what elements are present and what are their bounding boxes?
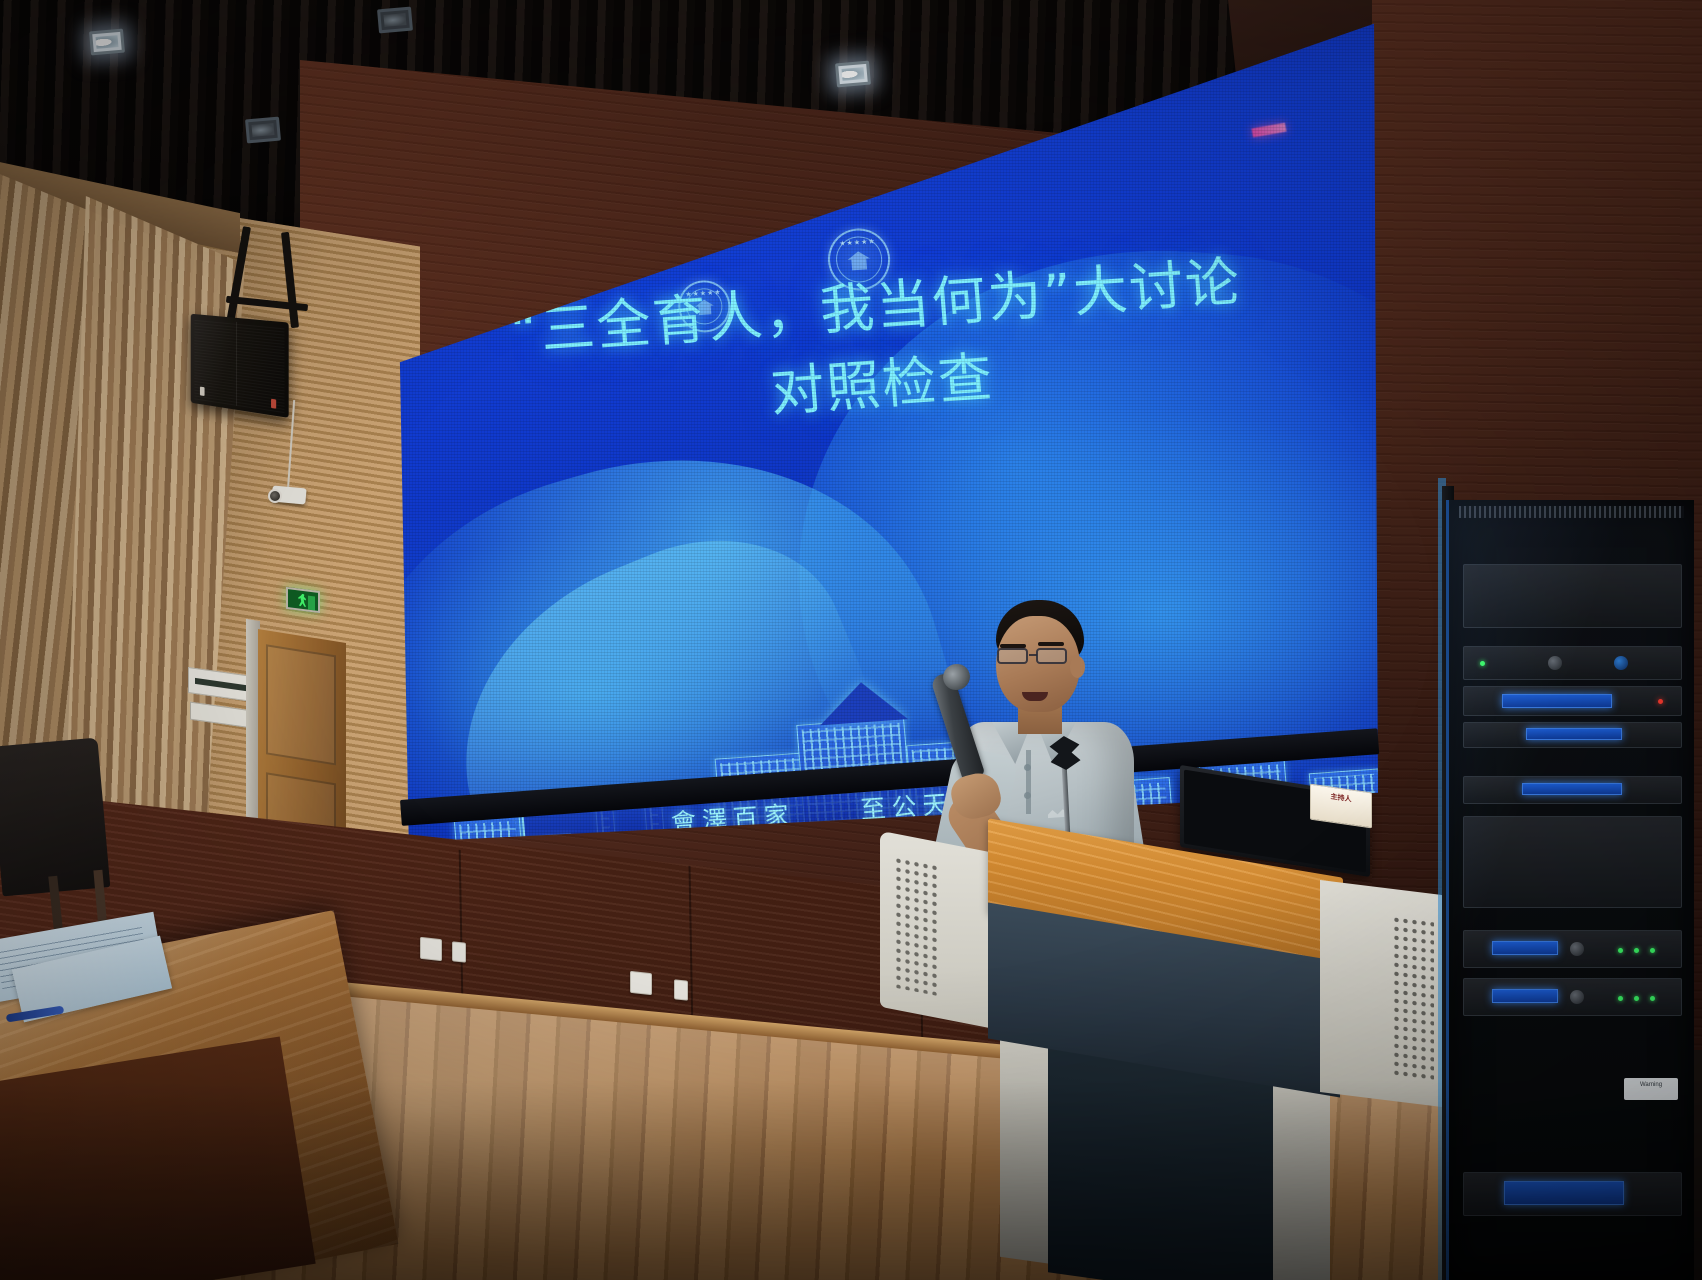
screenshot-scene: ★★★★★ ★★★★★ “三全育人，我当何为”大讨论 对照检查 — [0, 0, 1702, 1280]
av-equipment-rack[interactable]: Warning — [1446, 500, 1694, 1280]
shirt-button — [1024, 764, 1031, 771]
name-card-text: 主持人 — [1331, 794, 1352, 804]
rack-glass-door-reflection — [1449, 500, 1694, 1280]
lectern-left-panel — [880, 831, 996, 1030]
wall-power-outlet[interactable] — [630, 971, 652, 995]
eyeglass-lens-right — [1036, 648, 1067, 664]
wall-power-outlet[interactable] — [420, 937, 442, 961]
camera-lens-icon — [268, 489, 282, 503]
shirt-button — [1024, 792, 1031, 799]
foreground-table-apron — [0, 1036, 316, 1280]
running-man-icon — [298, 593, 309, 607]
speaker-badge — [271, 399, 276, 409]
exit-door-icon — [308, 596, 315, 611]
ceiling-loudspeaker — [191, 314, 289, 418]
ceiling-downlight-icon — [377, 7, 413, 34]
lectern-speaker-grille — [894, 855, 938, 996]
lectern-right-panel — [1320, 880, 1450, 1108]
wall-power-outlet[interactable] — [452, 941, 466, 962]
eyeglass-bridge — [1029, 654, 1037, 656]
lectern-speaker-grille — [1392, 915, 1434, 1084]
ceiling-downlight-icon — [89, 29, 125, 56]
door-panel-upper — [266, 644, 336, 765]
presenter-eyebrow — [1038, 642, 1064, 646]
wall-power-outlet[interactable] — [674, 979, 688, 1000]
lectern: 主持人 — [880, 800, 1480, 1280]
eyeglass-lens-left — [997, 648, 1028, 664]
speaker-seam — [236, 322, 237, 406]
emergency-exit-sign — [286, 587, 320, 613]
ceiling-downlight-icon — [835, 61, 871, 88]
eyeglasses-icon — [996, 648, 1078, 665]
speaker-badge — [200, 387, 205, 396]
vent-slit — [195, 678, 253, 692]
ceiling-downlight-icon — [245, 117, 281, 144]
